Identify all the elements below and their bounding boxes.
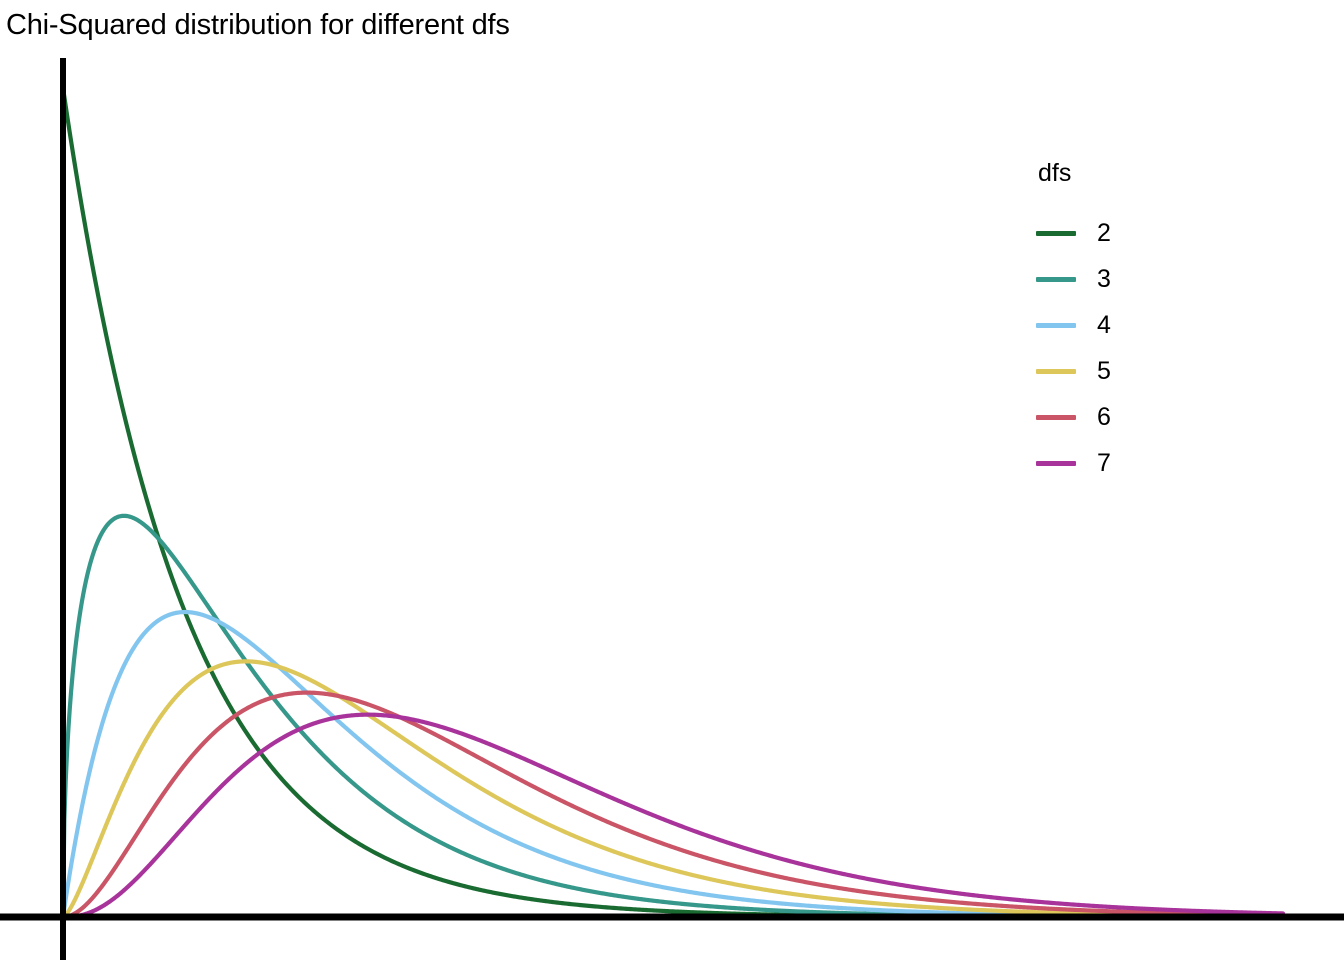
legend-item-label: 7: [1097, 451, 1111, 476]
series-line: [63, 715, 1283, 917]
legend-color-swatch: [1036, 369, 1076, 374]
chart-container: Chi-Squared distribution for different d…: [0, 0, 1344, 960]
legend-items: 234567: [1036, 210, 1186, 486]
legend-item[interactable]: 7: [1036, 440, 1186, 486]
legend-item[interactable]: 3: [1036, 256, 1186, 302]
legend-item-label: 5: [1097, 359, 1111, 384]
legend-color-swatch: [1036, 323, 1076, 328]
legend-item[interactable]: 5: [1036, 348, 1186, 394]
legend-item-label: 2: [1097, 221, 1111, 246]
legend-color-swatch: [1036, 415, 1076, 420]
legend-title: dfs: [1038, 158, 1186, 188]
legend-color-swatch: [1036, 461, 1076, 466]
legend-item-label: 3: [1097, 267, 1111, 292]
legend-item-label: 6: [1097, 405, 1111, 430]
legend-item[interactable]: 4: [1036, 302, 1186, 348]
legend: dfs 234567: [1036, 158, 1186, 486]
legend-item-label: 4: [1097, 313, 1111, 338]
legend-color-swatch: [1036, 277, 1076, 282]
legend-item[interactable]: 2: [1036, 210, 1186, 256]
legend-color-swatch: [1036, 231, 1076, 236]
series-line: [63, 661, 1283, 917]
series-line: [63, 516, 1283, 917]
series-line: [63, 693, 1283, 917]
legend-item[interactable]: 6: [1036, 394, 1186, 440]
